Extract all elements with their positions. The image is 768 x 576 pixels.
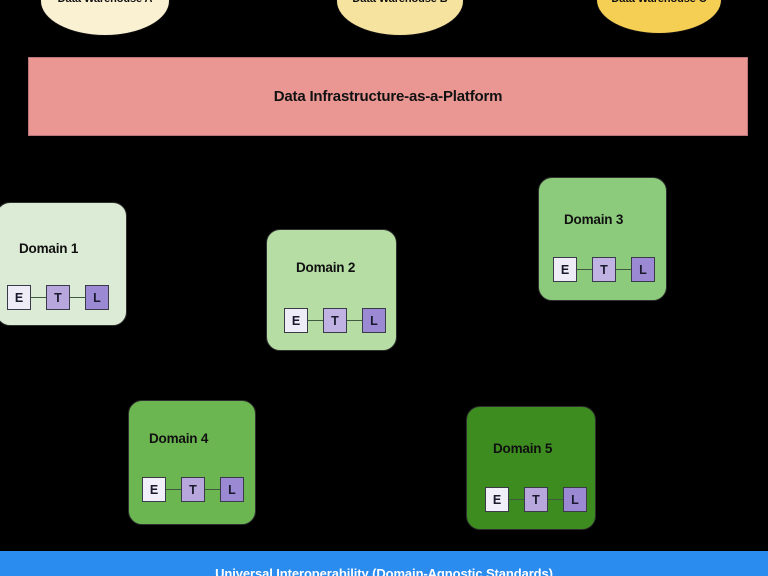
etl-node-t: T <box>592 257 616 282</box>
interoperability-band: Universal Interoperability (Domain-Agnos… <box>0 551 768 576</box>
etl-connector <box>548 499 563 500</box>
domain-label: Domain 5 <box>493 441 552 456</box>
domain-box: Domain 5ETL <box>466 406 596 530</box>
etl-connector <box>70 297 85 298</box>
etl-node-e: E <box>7 285 31 310</box>
etl-pipeline: ETL <box>284 308 386 333</box>
platform-band: Data Infrastructure-as-a-Platform <box>28 57 748 136</box>
etl-connector <box>205 489 220 490</box>
etl-connector <box>31 297 46 298</box>
etl-pipeline: ETL <box>553 257 655 282</box>
warehouse-label: Data Warehouse A <box>58 0 153 5</box>
etl-pipeline: ETL <box>142 477 244 502</box>
etl-node-e: E <box>553 257 577 282</box>
interoperability-band-label: Universal Interoperability (Domain-Agnos… <box>215 551 553 576</box>
domain-box: Domain 2ETL <box>266 229 397 351</box>
etl-pipeline: ETL <box>485 487 587 512</box>
etl-node-e: E <box>142 477 166 502</box>
etl-node-t: T <box>524 487 548 512</box>
etl-node-t: T <box>46 285 70 310</box>
etl-connector <box>577 269 592 270</box>
etl-node-e: E <box>485 487 509 512</box>
domain-box: Domain 4ETL <box>128 400 256 525</box>
etl-connector <box>509 499 524 500</box>
etl-pipeline: ETL <box>7 285 109 310</box>
etl-node-t: T <box>323 308 347 333</box>
etl-node-t: T <box>181 477 205 502</box>
warehouse-ellipse: Data Warehouse B <box>336 0 464 36</box>
warehouse-label: Data Warehouse C <box>611 0 706 5</box>
etl-node-e: E <box>284 308 308 333</box>
domain-box: Domain 3ETL <box>538 177 667 301</box>
diagram-canvas: Data Warehouse AData Warehouse BData War… <box>0 0 768 576</box>
etl-connector <box>616 269 631 270</box>
etl-node-l: L <box>362 308 386 333</box>
domain-label: Domain 4 <box>149 431 208 446</box>
domain-box: Domain 1ETL <box>0 202 127 326</box>
domain-label: Domain 3 <box>564 212 623 227</box>
domain-label: Domain 2 <box>296 260 355 275</box>
etl-node-l: L <box>85 285 109 310</box>
warehouse-ellipse: Data Warehouse A <box>40 0 170 36</box>
etl-connector <box>347 320 362 321</box>
etl-node-l: L <box>563 487 587 512</box>
warehouse-label: Data Warehouse B <box>352 0 447 5</box>
warehouse-ellipse: Data Warehouse C <box>596 0 722 34</box>
etl-connector <box>308 320 323 321</box>
etl-node-l: L <box>631 257 655 282</box>
platform-band-label: Data Infrastructure-as-a-Platform <box>274 88 502 105</box>
etl-node-l: L <box>220 477 244 502</box>
etl-connector <box>166 489 181 490</box>
domain-label: Domain 1 <box>19 241 78 256</box>
